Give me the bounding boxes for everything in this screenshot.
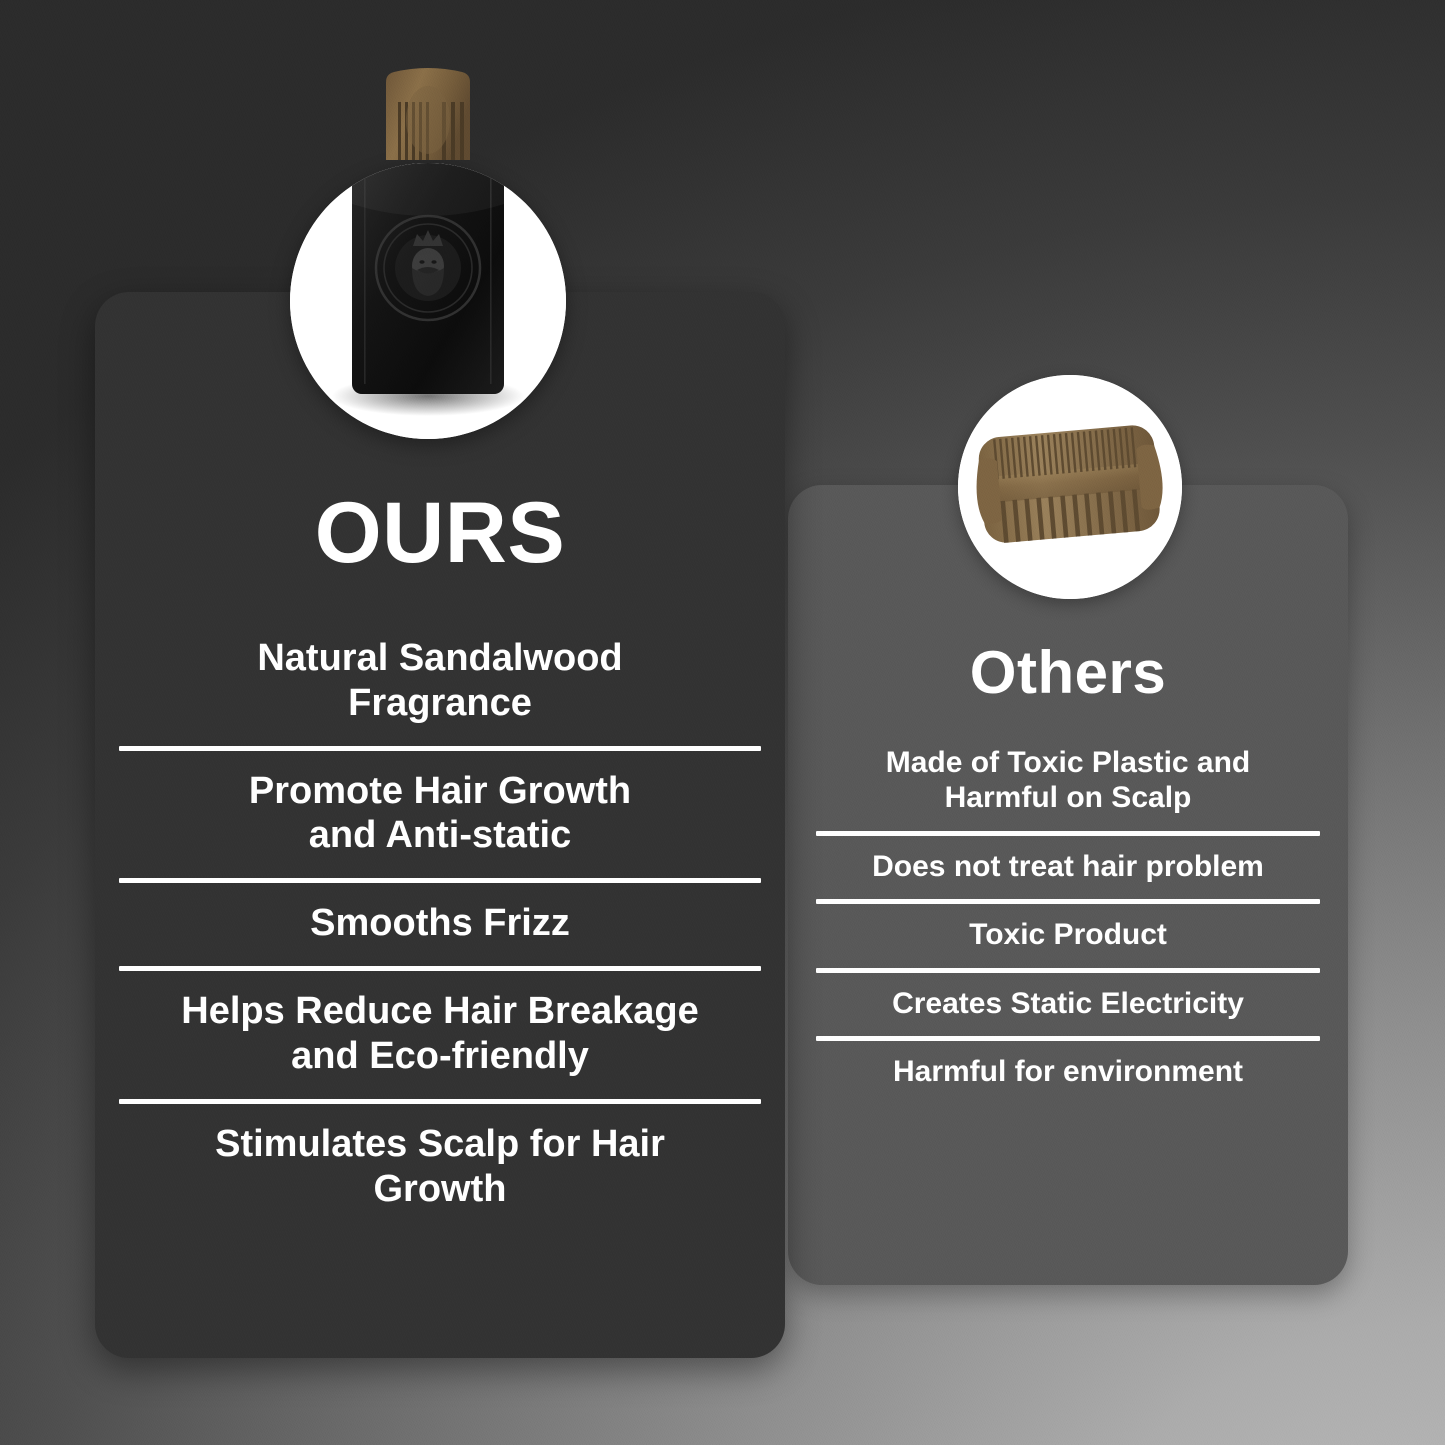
divider (816, 831, 1320, 836)
list-item: Harmful for environment (816, 1044, 1320, 1101)
comparison-infographic: Others Made of Toxic Plastic and Harmful… (0, 0, 1445, 1445)
divider (119, 746, 761, 751)
ours-feature-list: Natural Sandalwood Fragrance Promote Hai… (95, 622, 785, 1227)
ours-panel: OURS Natural Sandalwood Fragrance Promot… (95, 292, 785, 1358)
list-item: Does not treat hair problem (816, 839, 1320, 896)
list-item: Smooths Frizz (119, 887, 761, 962)
divider (816, 968, 1320, 973)
ours-product-photo-wrapper (290, 60, 566, 440)
divider (816, 1036, 1320, 1041)
divider (816, 899, 1320, 904)
others-panel: Others Made of Toxic Plastic and Harmful… (788, 485, 1348, 1285)
leather-sleeve-with-wooden-comb-icon (290, 60, 566, 440)
divider (119, 878, 761, 883)
divider (119, 966, 761, 971)
list-item: Helps Reduce Hair Breakage and Eco-frien… (119, 975, 761, 1095)
list-item: Creates Static Electricity (816, 976, 1320, 1033)
divider (119, 1099, 761, 1104)
others-heading: Others (788, 643, 1348, 703)
list-item: Promote Hair Growth and Anti-static (119, 755, 761, 875)
list-item: Stimulates Scalp for Hair Growth (119, 1108, 761, 1228)
list-item: Made of Toxic Plastic and Harmful on Sca… (816, 735, 1320, 828)
list-item: Toxic Product (816, 907, 1320, 964)
list-item: Natural Sandalwood Fragrance (119, 622, 761, 742)
others-product-photo (958, 375, 1182, 599)
others-feature-list: Made of Toxic Plastic and Harmful on Sca… (788, 735, 1348, 1101)
wooden-dual-tooth-comb-icon (958, 375, 1182, 599)
ours-heading: OURS (95, 490, 785, 576)
